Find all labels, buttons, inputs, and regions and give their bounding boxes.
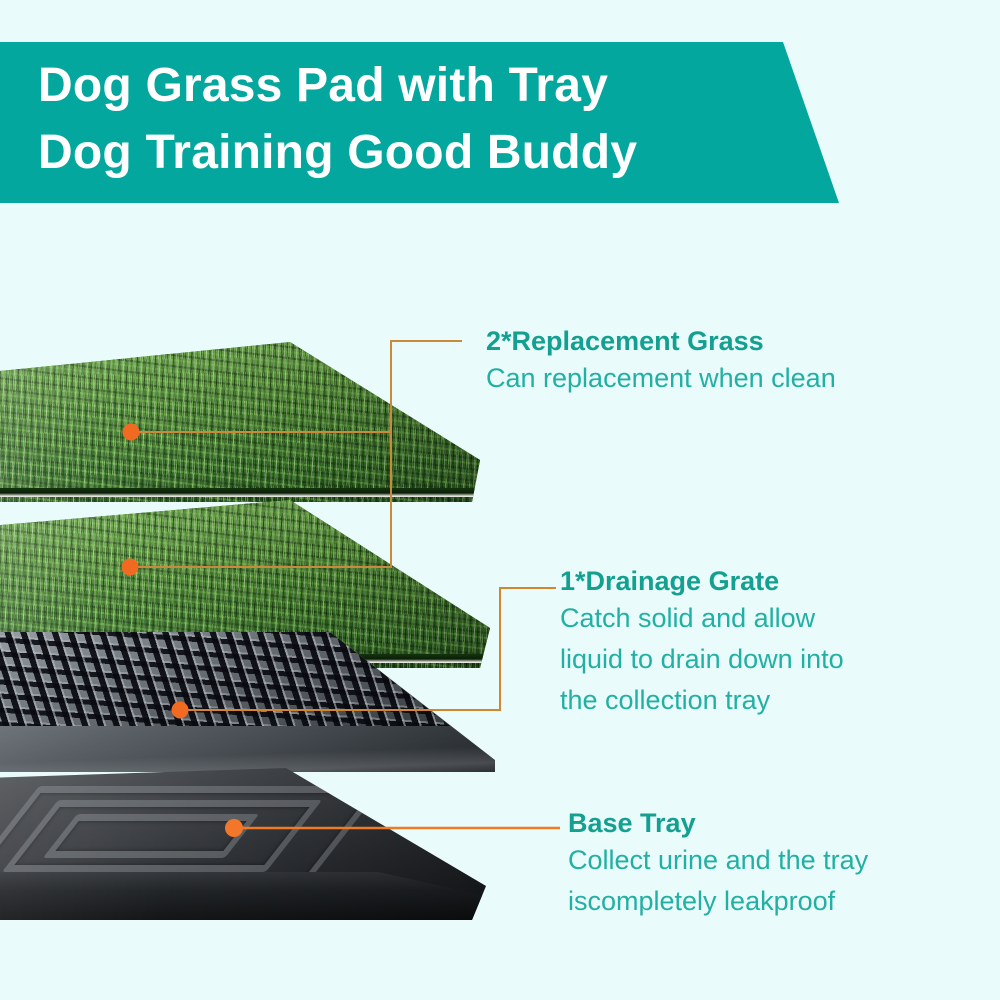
base-tray-layer bbox=[0, 768, 506, 948]
grass-backing-edge bbox=[0, 488, 490, 497]
callout-body-line: iscompletely leakproof bbox=[568, 881, 868, 922]
callout-body-line: Can replacement when clean bbox=[486, 358, 836, 399]
callout-drainage-grate: 1*Drainage Grate Catch solid and allow l… bbox=[560, 564, 844, 721]
banner-title-line-2: Dog Training Good Buddy bbox=[38, 119, 798, 186]
callout-body-line: liquid to drain down into bbox=[560, 639, 844, 680]
grass-pad-top-layer bbox=[0, 342, 490, 527]
callout-body-line: Catch solid and allow bbox=[560, 598, 844, 639]
header-banner-text: Dog Grass Pad with Tray Dog Training Goo… bbox=[38, 52, 798, 186]
callout-body-line: the collection tray bbox=[560, 680, 844, 721]
callout-title: Base Tray bbox=[568, 806, 868, 840]
infographic-canvas: Dog Grass Pad with Tray Dog Training Goo… bbox=[0, 0, 1000, 1000]
product-exploded-view bbox=[0, 320, 520, 960]
callout-body-line: Collect urine and the tray bbox=[568, 840, 868, 881]
callout-title: 1*Drainage Grate bbox=[560, 564, 844, 598]
callout-base-tray: Base Tray Collect urine and the tray isc… bbox=[568, 806, 868, 922]
tray-gloss bbox=[0, 768, 506, 948]
callout-replacement-grass: 2*Replacement Grass Can replacement when… bbox=[486, 324, 836, 399]
banner-title-line-1: Dog Grass Pad with Tray bbox=[38, 52, 798, 119]
callout-title: 2*Replacement Grass bbox=[486, 324, 836, 358]
grass-shading bbox=[0, 342, 490, 527]
